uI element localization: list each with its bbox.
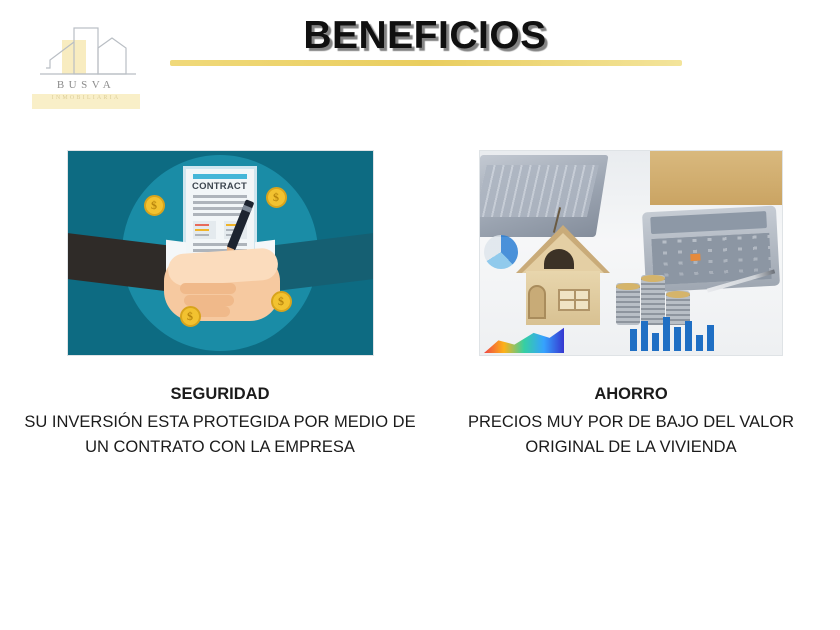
document-title: CONTRACT <box>186 181 254 192</box>
dollar-coin-icon: $ <box>144 195 165 216</box>
building-outline-icon <box>26 22 146 80</box>
printed-line-chart <box>484 325 564 353</box>
calculator-screen <box>650 211 767 234</box>
house-window <box>558 289 590 311</box>
dollar-coin-icon: $ <box>180 306 201 327</box>
document-field-left <box>193 221 216 239</box>
pie-chart-on-paper <box>484 235 518 269</box>
printed-bar-chart <box>480 309 782 355</box>
calculator-accent-key <box>690 254 700 262</box>
dollar-coin-icon: $ <box>271 291 292 312</box>
title-underline-rule <box>170 60 682 66</box>
benefit-card-seguridad: CONTRACT <box>18 150 422 461</box>
benefit-caption-seguridad: SEGURIDAD SU INVERSIÓN ESTA PROTEGIDA PO… <box>18 382 422 461</box>
busva-logo[interactable]: BUSVA INMOBILIARIA <box>26 22 146 108</box>
wooden-model-house <box>516 207 610 325</box>
dollar-coin-icon: $ <box>266 187 287 208</box>
benefit-body: PRECIOS MUY POR DE BAJO DEL VALOR ORIGIN… <box>440 410 822 461</box>
benefit-card-ahorro: AHORRO PRECIOS MUY POR DE BAJO DEL VALOR… <box>440 150 822 461</box>
logo-wordmark: BUSVA <box>26 79 146 91</box>
document-header-bar <box>193 174 247 179</box>
wood-panel <box>650 151 782 205</box>
handshake-contract-illustration: CONTRACT <box>67 150 374 356</box>
benefit-heading: AHORRO <box>440 382 822 408</box>
benefit-heading: SEGURIDAD <box>18 382 422 408</box>
coin-top <box>616 283 640 290</box>
slide: BUSVA INMOBILIARIA BENEFICIOS CONTRACT <box>0 0 840 630</box>
benefit-body: SU INVERSIÓN ESTA PROTEGIDA POR MEDIO DE… <box>18 410 422 461</box>
finger <box>180 283 236 294</box>
finger <box>184 295 234 306</box>
model-house-coins-calculator-photo <box>479 150 783 356</box>
logo-tagline: INMOBILIARIA <box>26 95 146 101</box>
page-title: BENEFICIOS <box>170 14 680 58</box>
benefit-caption-ahorro: AHORRO PRECIOS MUY POR DE BAJO DEL VALOR… <box>440 382 822 461</box>
coin-top <box>641 275 665 282</box>
coin-top <box>666 291 690 298</box>
